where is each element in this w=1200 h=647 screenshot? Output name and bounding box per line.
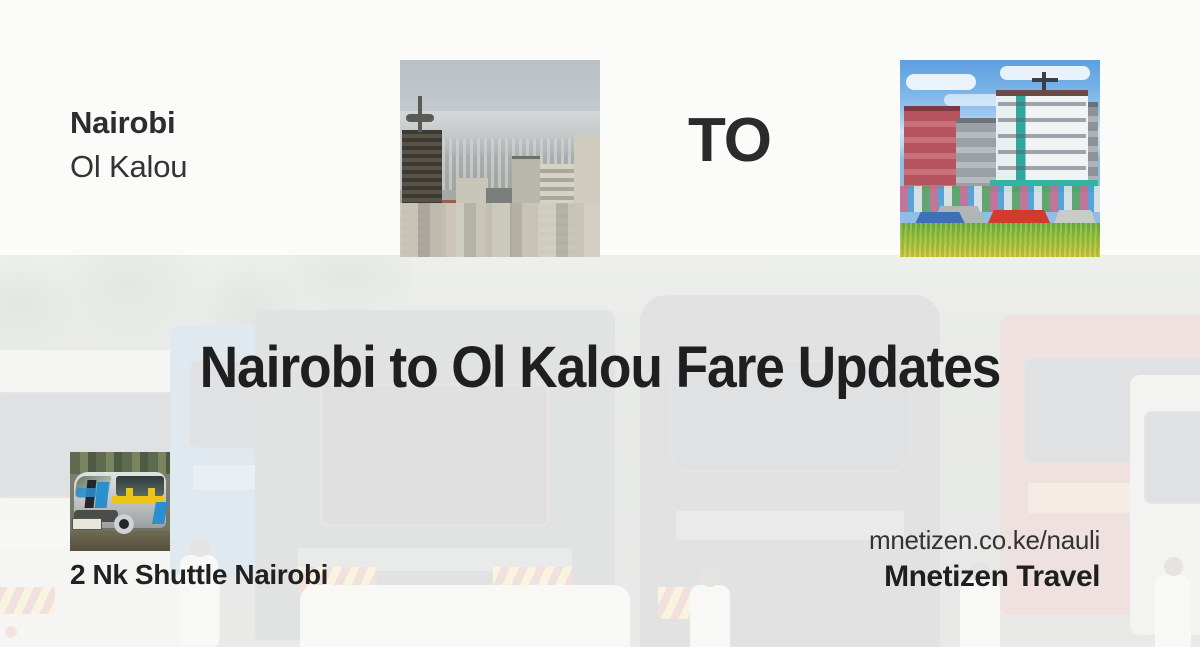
background-foliage — [70, 452, 170, 474]
cloud — [906, 74, 976, 90]
site-brand: Mnetizen Travel — [884, 560, 1100, 595]
route-connector-label: TO — [688, 110, 771, 172]
grass-field — [900, 223, 1100, 257]
pedestrian-head — [1164, 557, 1183, 576]
shuttle-van-photo — [70, 452, 170, 551]
pedestrian — [690, 585, 730, 647]
tail-lamp — [399, 619, 413, 633]
van-licence-plate — [72, 518, 102, 530]
pedestrian-head — [190, 537, 210, 557]
ground — [70, 531, 170, 551]
floor-lines — [998, 102, 1086, 192]
matatu-far-right — [1130, 375, 1200, 635]
pedestrian-head — [700, 567, 720, 587]
tail-lamp — [453, 619, 467, 633]
matatu-warning-stripe — [493, 567, 572, 593]
antenna-mast — [418, 96, 422, 132]
van-side-window — [116, 476, 164, 496]
matatu-rear-window — [1144, 411, 1200, 503]
apartment-block — [956, 118, 1000, 189]
fare-update-card: Nairobi Ol Kalou TO — [0, 0, 1200, 647]
apartment-block — [904, 106, 960, 189]
van-wheel — [114, 514, 134, 534]
market-stalls — [900, 186, 1100, 212]
matatu-warning-stripe — [658, 587, 718, 619]
route-destination-label: Ol Kalou — [70, 150, 187, 184]
matatu-sacco-band — [193, 465, 337, 490]
site-url[interactable]: mnetizen.co.ke/nauli — [869, 526, 1100, 556]
rooftop-antenna — [1032, 78, 1058, 82]
tail-lamp — [5, 626, 17, 638]
page-title: Nairobi to Ol Kalou Fare Updates — [48, 336, 1152, 400]
matatu-sacco-band — [298, 548, 572, 571]
matatu-warning-stripe — [0, 587, 55, 614]
car-foreground — [300, 585, 630, 647]
main-apartment-block — [996, 90, 1088, 192]
operator-name: 2 Nk Shuttle Nairobi — [70, 560, 328, 591]
lowrise-row — [400, 203, 600, 257]
matatu-sacco-band — [1028, 483, 1200, 513]
matatu-rear-panel — [320, 383, 550, 528]
route-origin-label: Nairobi — [70, 106, 175, 140]
van-logo — [76, 488, 96, 497]
pedestrian — [1155, 575, 1191, 647]
nairobi-skyline-photo — [400, 60, 600, 257]
ol-kalou-town-photo — [900, 60, 1100, 257]
